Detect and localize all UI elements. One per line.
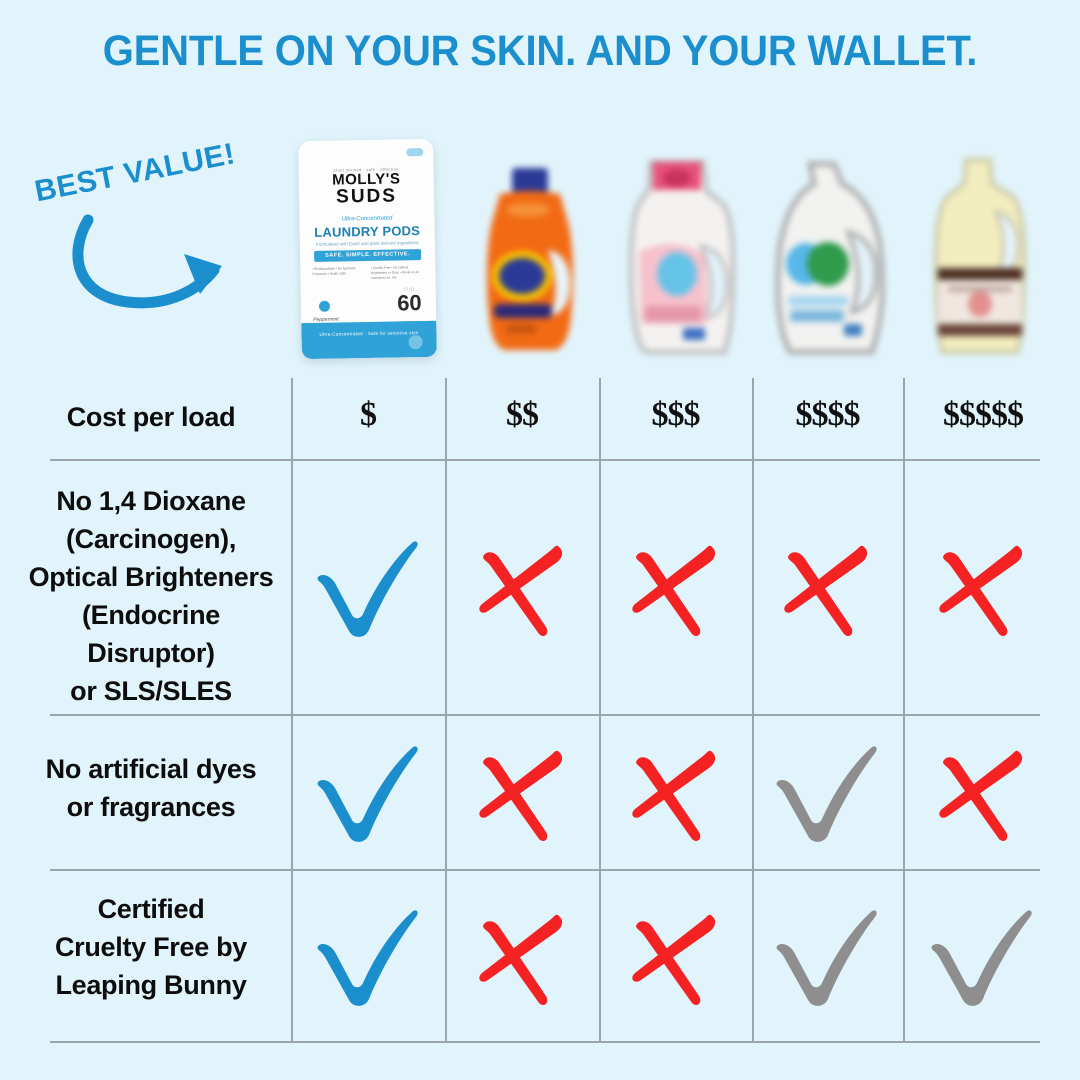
row-label-no-dyes: No artificial dyes or fragrances xyxy=(20,750,282,826)
cross-red-icon xyxy=(615,531,735,646)
pouch-subtitle: Formulated with Earth and plant derived … xyxy=(300,240,435,247)
pouch-bottom-band: Ultra-Concentrated · Safe for sensitive … xyxy=(301,321,437,359)
column-divider-5 xyxy=(903,378,905,1042)
pouch-drop-icon xyxy=(319,301,330,312)
pouch-banner: SAFE. SIMPLE. EFFECTIVE. xyxy=(314,249,421,262)
cost-value-col1: $ xyxy=(360,396,376,433)
product-competitor-3-bottle xyxy=(760,160,900,360)
check-blue-icon xyxy=(308,736,428,851)
row-label-line: No 1,4 Dioxane xyxy=(20,482,282,520)
row-label-line: Certified xyxy=(20,890,282,928)
row-label-line: Leaping Bunny xyxy=(20,966,282,1004)
cost-cell-col2: $$ xyxy=(445,396,599,434)
pouch-count-number: 60 xyxy=(395,292,424,314)
pouch-bullets: • Biodegradable • No Synthetic Fragrance… xyxy=(312,265,423,282)
row-label-cost-per-load: Cost per load xyxy=(20,398,282,436)
row-label-line: or fragrances xyxy=(20,788,282,826)
pouch-logo: MOLLY'S SUDS xyxy=(299,171,435,207)
row-label-cruelty-free: Certified Cruelty Free by Leaping Bunny xyxy=(20,890,282,1004)
column-divider-4 xyxy=(752,378,754,1042)
row-label-line: or SLS/SLES xyxy=(20,672,282,710)
check-blue-icon xyxy=(308,900,428,1015)
check-blue-icon xyxy=(308,531,428,646)
row-label-line: Cruelty Free by xyxy=(20,928,282,966)
column-divider-3 xyxy=(599,378,601,1042)
product-competitor-2-bottle xyxy=(615,156,750,361)
pouch-seal-icon xyxy=(409,335,423,349)
pouch-product-title: LAUNDRY PODS xyxy=(300,223,435,240)
product-competitor-4-bottle xyxy=(920,158,1045,360)
cross-red-icon xyxy=(922,531,1042,646)
row-label-no-dioxane: No 1,4 Dioxane (Carcinogen), Optical Bri… xyxy=(20,482,282,710)
cost-cell-col3: $$$ xyxy=(599,396,752,434)
column-divider-2 xyxy=(445,378,447,1042)
cross-red-icon xyxy=(922,736,1042,851)
check-gray-icon xyxy=(767,736,887,851)
product-competitor-1-bottle xyxy=(470,166,590,361)
check-gray-icon xyxy=(767,900,887,1015)
cost-cell-col5: $$$$$ xyxy=(903,396,1063,434)
pouch-zip-tab xyxy=(406,148,423,156)
cost-cell-col4: $$$$ xyxy=(752,396,903,434)
cross-red-icon xyxy=(462,736,582,851)
cost-cell-col1: $ xyxy=(291,396,445,434)
pouch-ultra-text: Ultra-Concentrated xyxy=(299,215,434,223)
row-label-line: No artificial dyes xyxy=(20,750,282,788)
cross-red-icon xyxy=(615,736,735,851)
column-divider-1 xyxy=(291,378,293,1042)
check-gray-icon xyxy=(922,900,1042,1015)
pouch-logo-line2: SUDS xyxy=(299,186,434,207)
product-mollys-suds-pouch: plant derived · safe · effective MOLLY'S… xyxy=(298,139,437,359)
row-label-line: (Carcinogen), xyxy=(20,520,282,558)
row-divider-2 xyxy=(50,714,1040,716)
cross-red-icon xyxy=(462,531,582,646)
row-label-line: (Endocrine Disruptor) xyxy=(20,596,282,672)
cross-red-icon xyxy=(462,900,582,1015)
row-label-line: Optical Brighteners xyxy=(20,558,282,596)
cross-red-icon xyxy=(615,900,735,1015)
cross-red-icon xyxy=(767,531,887,646)
pouch-bullets-right: • Cruelty Free • No Optical Brighteners … xyxy=(371,265,424,281)
row-divider-1 xyxy=(50,459,1040,461)
page-title: GENTLE ON YOUR SKIN. AND YOUR WALLET. xyxy=(38,27,1042,76)
product-image-strip: plant derived · safe · effective MOLLY'S… xyxy=(0,128,1080,366)
row-divider-3 xyxy=(50,869,1040,871)
row-divider-4 xyxy=(50,1041,1040,1043)
pouch-bullets-left: • Biodegradable • No Synthetic Fragrance… xyxy=(312,266,365,282)
